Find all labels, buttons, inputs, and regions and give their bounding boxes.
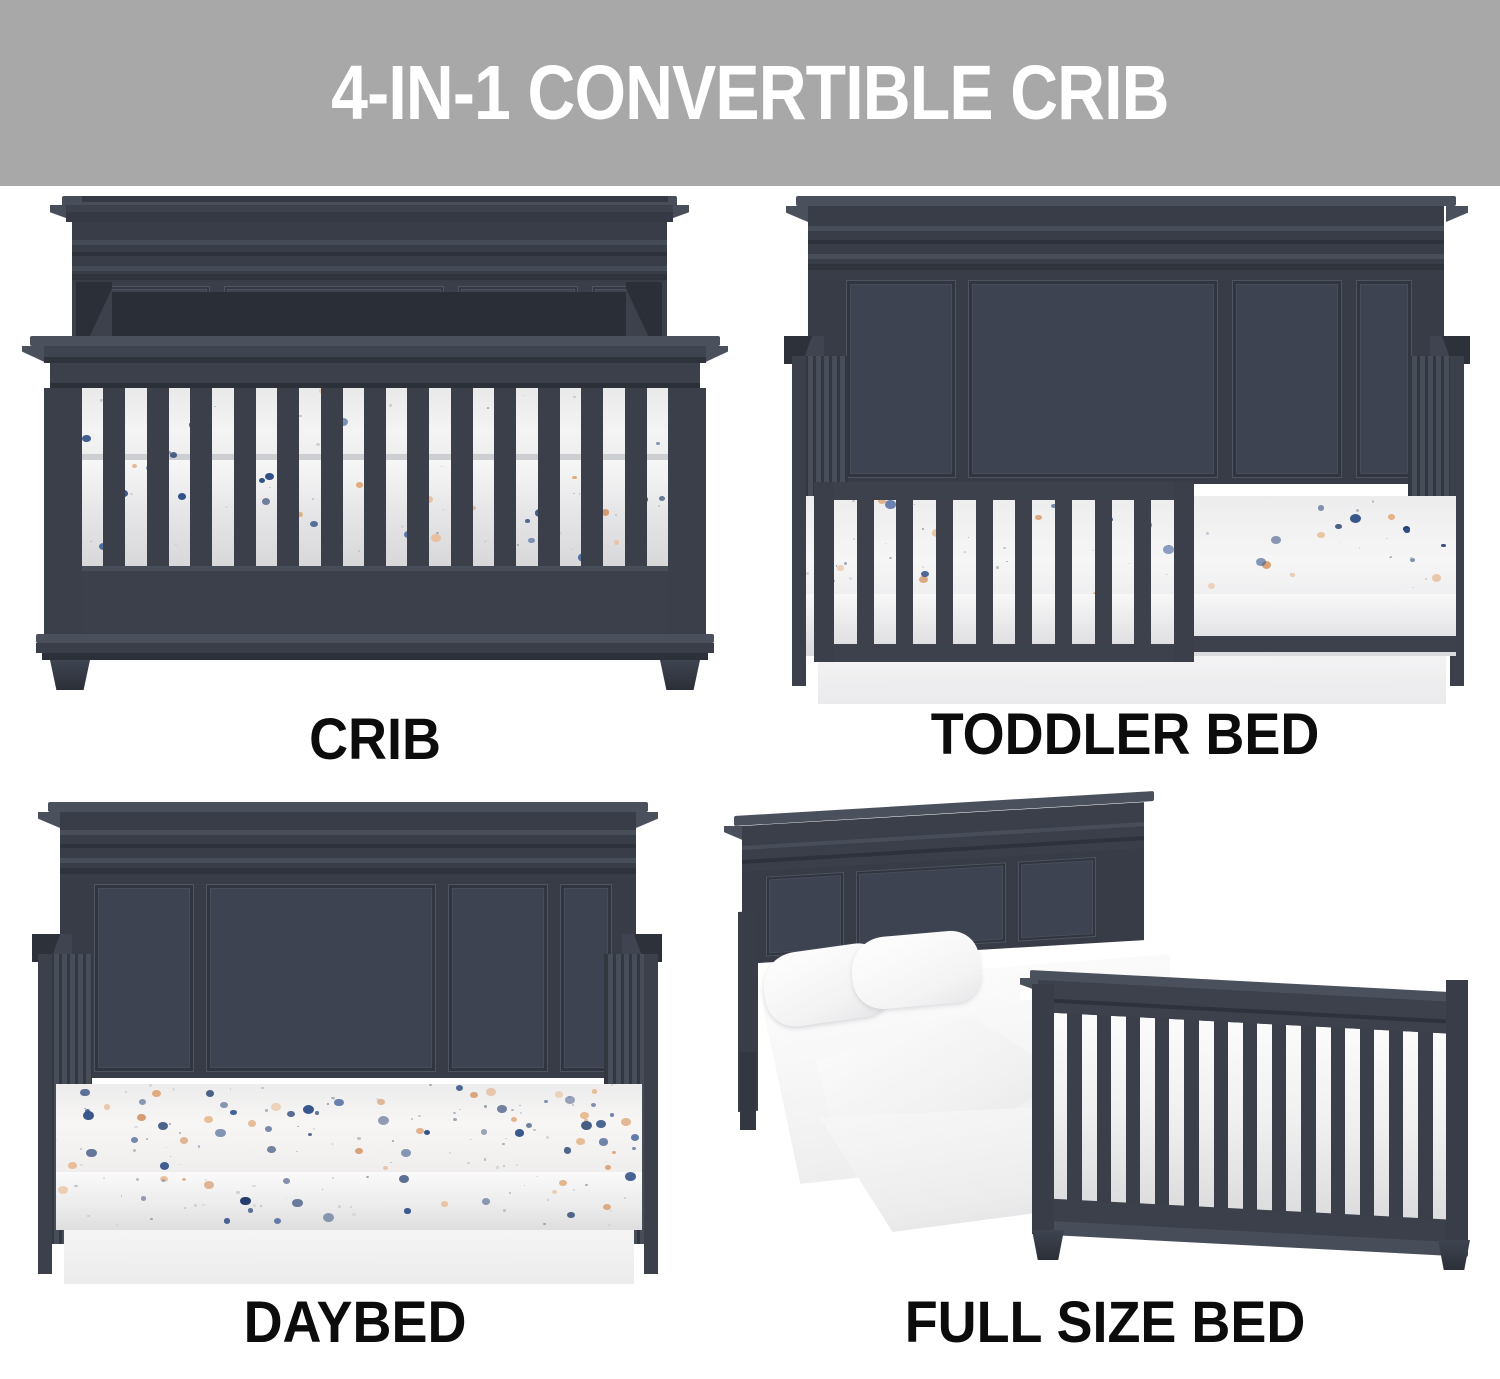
mattress-speckle (453, 1118, 457, 1121)
mattress-speckle (236, 1191, 239, 1194)
mattress-speckle (160, 1162, 169, 1169)
crib-base-molding-bottom (42, 653, 708, 660)
full-bed-headboard-leg-left (740, 1052, 756, 1130)
mattress-speckle (1404, 528, 1410, 533)
daybed-headboard-rail-4 (60, 868, 636, 874)
crib-lower-panel-edge (82, 566, 668, 571)
toddler-guard-rail-slat (1095, 498, 1112, 646)
mattress-speckle (230, 1110, 237, 1115)
mattress-speckle (366, 1176, 369, 1178)
mattress-speckle (202, 1204, 205, 1206)
mattress-speckle (1441, 544, 1445, 548)
mattress-speckle (1425, 578, 1427, 579)
mattress-speckle (1356, 509, 1359, 512)
mattress-speckle (74, 1185, 77, 1188)
mattress-speckle (525, 519, 529, 523)
crib-base-molding-middle (36, 643, 714, 653)
toddler-headboard-rail-2 (808, 240, 1444, 244)
mattress-speckle (429, 1084, 432, 1086)
mattress-speckle (158, 1122, 168, 1130)
mattress-speckle (503, 1165, 505, 1167)
toddler-guard-rail-slat (1015, 498, 1032, 646)
mattress-speckle (194, 1204, 197, 1207)
crib-side-wing-left (76, 282, 112, 342)
mattress-speckle (68, 1162, 77, 1170)
crib-headboard-rail-2 (72, 252, 667, 256)
mattress-speckle (103, 1177, 106, 1179)
mattress-speckle (1410, 557, 1413, 559)
mattress-speckle (591, 1103, 596, 1107)
crib-corner-post-left (44, 388, 82, 634)
mattress-speckle (150, 1218, 153, 1220)
mattress-speckle (357, 1137, 360, 1140)
mattress-speckle (486, 1088, 496, 1096)
crib-front-molding-flare-right (706, 346, 728, 368)
daybed-bed-skirt (64, 1230, 634, 1284)
mattress-speckle (503, 1209, 506, 1212)
mattress-speckle (404, 1208, 410, 1213)
mattress-speckle (528, 538, 534, 543)
mattress-speckle (401, 525, 404, 527)
full-bed-footboard-slat-gap (1082, 1014, 1097, 1205)
mattress-speckle (1256, 558, 1266, 566)
crib-corner-post-right (668, 388, 706, 634)
crib-slat (321, 388, 343, 566)
mattress-speckle (614, 540, 620, 545)
crib-slat-top-cap (82, 196, 668, 202)
mattress-speckle (310, 521, 317, 527)
mattress-speckle (547, 1199, 549, 1201)
mattress-speckle (526, 1123, 532, 1128)
crib-slat (103, 388, 125, 566)
mattress-speckle (1340, 542, 1341, 543)
mattress-speckle (509, 1192, 511, 1194)
mattress-speckle (516, 1164, 518, 1166)
mattress-speckle (338, 1205, 341, 1208)
crib-front-rail-band-1 (44, 346, 706, 357)
mattress-speckle (179, 1164, 181, 1165)
mattress-speckle (205, 1179, 207, 1181)
full-bed-headboard-crown-flare (724, 826, 744, 848)
toddler-raised-panel (968, 280, 1218, 478)
mattress-speckle (612, 1151, 616, 1154)
toddler-headboard-rail-3 (808, 254, 1444, 259)
crib-slat (625, 388, 647, 566)
mattress-speckle (416, 1128, 423, 1134)
toddler-raised-panel (1232, 280, 1342, 478)
mattress-speckle (383, 1166, 389, 1171)
full-bed-footboard-slat-gap (1052, 1013, 1067, 1204)
toddler-raised-panel (1356, 280, 1412, 478)
mattress-speckle (248, 1120, 256, 1127)
mattress-speckle (459, 1109, 461, 1110)
mattress-speckle (296, 1151, 298, 1153)
mattress-speckle (240, 1197, 250, 1205)
daybed-raised-panel (448, 884, 548, 1072)
mattress-speckle (152, 1090, 161, 1097)
crib-lower-front-panel (82, 566, 668, 634)
mattress-speckle (441, 1201, 448, 1207)
mattress-speckle (220, 1102, 227, 1108)
mattress-speckle (1412, 587, 1413, 588)
toddler-guard-rail-slat (896, 498, 913, 646)
mattress-speckle (533, 1129, 535, 1131)
daybed-crown-molding (48, 802, 648, 812)
daybed-raised-panel (206, 884, 436, 1072)
mattress-speckle (572, 1104, 574, 1106)
mattress-speckle (484, 540, 487, 542)
mattress-speckle (592, 1089, 598, 1094)
mattress-speckle (132, 464, 137, 468)
mattress-speckle (511, 1109, 514, 1112)
toddler-headboard-rail-1 (808, 226, 1444, 231)
toddler-guard-rail-slat (1055, 498, 1072, 646)
configuration-grid: CRIB (0, 186, 1500, 1379)
mattress-speckle (559, 1180, 567, 1186)
mattress-speckle (484, 1158, 487, 1160)
mattress-speckle (517, 544, 519, 546)
mattress-speckle (204, 1181, 214, 1189)
mattress-speckle (174, 544, 177, 546)
mattress-speckle (350, 1206, 351, 1207)
mattress-speckle (390, 1162, 392, 1164)
mattress-speckle (331, 1097, 334, 1100)
mattress-speckle (502, 1143, 505, 1146)
full-bed-foot-left (1032, 1230, 1064, 1260)
crib-front-molding-flare-left (22, 346, 44, 368)
full-bed-raised-panel (1018, 857, 1096, 942)
mattress-speckle (179, 1132, 181, 1134)
mattress-speckle (611, 1084, 613, 1086)
mattress-speckle (1432, 574, 1441, 582)
mattress-speckle (615, 514, 617, 516)
mattress-speckle (286, 1198, 287, 1199)
caption-full-size-bed: FULL SIZE BED (738, 1294, 1473, 1352)
mattress-speckle (536, 1176, 538, 1177)
mattress-speckle (252, 1185, 255, 1188)
mattress-speckle (1271, 536, 1281, 544)
full-bed-footboard-slat-gap (1111, 1016, 1126, 1207)
mattress-speckle (58, 1186, 68, 1194)
mattress-speckle (467, 1162, 470, 1164)
crib-front-rail-band-3 (50, 363, 700, 383)
mattress-speckle (567, 1212, 575, 1218)
full-bed-footboard-slat-gap (1345, 1028, 1360, 1219)
mattress-speckle (297, 1126, 299, 1127)
toddler-guard-rail-post-left (814, 482, 834, 662)
crib-base-molding-top (36, 634, 714, 643)
daybed-crown-flare-left (38, 812, 60, 836)
mattress-speckle (83, 1111, 94, 1120)
mattress-speckle (580, 1112, 589, 1119)
mattress-speckle (180, 1137, 188, 1143)
toddler-guard-rail-slat (976, 498, 993, 646)
toddler-lower-side-rail-right (1194, 636, 1456, 652)
mattress-speckle (581, 1121, 592, 1130)
crib-illustration (0, 186, 750, 796)
caption-toddler-bed: TODDLER BED (776, 706, 1474, 764)
full-bed-footboard-post-left (1032, 984, 1054, 1234)
mattress-speckle (481, 1129, 487, 1134)
mattress-speckle (322, 1189, 324, 1190)
mattress-speckle (299, 415, 301, 417)
daybed-mattress-top (56, 1084, 642, 1172)
mattress-speckle (265, 1109, 268, 1111)
daybed-headboard-rail-3 (60, 858, 636, 863)
mattress-speckle (453, 1112, 456, 1115)
toddler-bed-skirt (818, 656, 1446, 704)
mattress-speckle (511, 1117, 518, 1123)
toddler-headboard-rail-4 (808, 264, 1444, 270)
mattress-speckle (121, 1195, 123, 1196)
daybed-raised-panel (94, 884, 194, 1072)
crib-slat (407, 388, 429, 566)
crib-foot-right (660, 660, 700, 690)
mattress-speckle (520, 1112, 522, 1114)
mattress-speckle (139, 1099, 146, 1105)
daybed-headboard-rail-2 (60, 844, 636, 848)
mattress-speckle (631, 1134, 639, 1141)
mattress-speckle (1386, 538, 1387, 539)
mattress-speckle (224, 1218, 231, 1223)
mattress-speckle (1389, 557, 1391, 559)
mattress-speckle (162, 1179, 165, 1182)
daybed-corner-post-right (644, 954, 658, 1274)
mattress-speckle (377, 1099, 384, 1105)
mattress-speckle (352, 1213, 356, 1216)
mattress-speckle (56, 1139, 57, 1140)
mattress-speckle (316, 443, 319, 446)
mattress-speckle (576, 1138, 586, 1146)
mattress-speckle (169, 1123, 172, 1125)
mattress-speckle (573, 1189, 575, 1190)
toddler-headboard-panel-row (808, 274, 1444, 484)
crib-headboard-lower-band (72, 274, 667, 280)
mattress-speckle (141, 1196, 147, 1201)
mattress-speckle (269, 487, 271, 488)
mattress-speckle (625, 1172, 636, 1181)
mattress-speckle (1335, 524, 1342, 529)
mattress-speckle (170, 452, 177, 458)
mattress-speckle (1359, 547, 1360, 548)
mattress-speckle (1208, 583, 1215, 589)
toddler-guard-rail-slat (1134, 498, 1151, 646)
full-bed-footboard-slat-gap (1316, 1027, 1331, 1218)
mattress-speckle (1350, 514, 1361, 523)
mattress-speckle (146, 1138, 149, 1140)
mattress-speckle (292, 1199, 302, 1207)
crib-slat (147, 388, 169, 566)
mattress-speckle (313, 1128, 315, 1130)
toddler-guard-rail-slat (936, 498, 953, 646)
full-bed-footboard-slat-gap (1286, 1025, 1301, 1216)
configuration-cell-toddler-bed: TODDLER BED (750, 186, 1500, 796)
mattress-speckle (573, 493, 575, 495)
mattress-speckle (283, 1178, 290, 1184)
full-bed-raised-panel (766, 872, 844, 957)
mattress-speckle (401, 1149, 411, 1157)
mattress-speckle (253, 1204, 256, 1207)
mattress-speckle (172, 1088, 175, 1091)
full-bed-footboard-slat-gap (1257, 1023, 1272, 1214)
mattress-speckle (327, 1103, 328, 1104)
mattress-speckle (80, 1089, 89, 1097)
mattress-speckle (198, 1145, 201, 1147)
full-bed-footboard-slat-gap (1403, 1031, 1418, 1222)
mattress-speckle (248, 1208, 254, 1213)
mattress-speckle (1388, 514, 1396, 520)
daybed-mattress-front-face (56, 1172, 642, 1230)
mattress-speckle (82, 435, 90, 442)
mattress-speckle (358, 550, 360, 551)
full-bed-footboard-slat-group (1038, 1012, 1462, 1224)
mattress-speckle (544, 1100, 549, 1104)
mattress-speckle (166, 1147, 167, 1148)
mattress-speckle (610, 1113, 615, 1117)
toddler-guard-rail-slat (857, 498, 874, 646)
mattress-speckle (133, 1149, 136, 1152)
crib-slat (364, 388, 386, 566)
mattress-speckle (608, 1224, 610, 1226)
mattress-speckle (524, 1185, 526, 1187)
toddler-guard-rail-bottom (814, 644, 1194, 662)
mattress-speckle (86, 1149, 97, 1158)
mattress-speckle (424, 1130, 430, 1135)
mattress-speckle (806, 572, 809, 574)
daybed-crown-flare-right (636, 812, 658, 836)
daybed-headboard-panel-row (60, 878, 636, 1078)
crib-slat (451, 388, 473, 566)
crib-side-wing-right (626, 282, 662, 342)
crib-headboard-rail-3 (72, 266, 667, 271)
mattress-speckle (519, 1105, 520, 1106)
configuration-cell-daybed: DAYBED (0, 796, 710, 1379)
mattress-speckle (303, 1105, 314, 1114)
mattress-speckle (456, 1085, 463, 1091)
mattress-speckle (312, 498, 314, 500)
mattress-speckle (206, 1090, 214, 1096)
mattress-speckle (215, 1129, 226, 1138)
crib-foot-left (50, 660, 90, 690)
mattress-speckle (84, 1108, 85, 1109)
crib-front-top-molding (30, 336, 720, 346)
mattress-speckle (80, 1164, 82, 1166)
mattress-speckle (484, 1105, 487, 1108)
mattress-speckle (552, 1190, 557, 1194)
full-bed-footboard-slat-gap (1169, 1019, 1184, 1210)
mattress-speckle (267, 1146, 275, 1153)
full-bed-footboard-slat-gap (1140, 1017, 1155, 1208)
mattress-speckle (356, 482, 364, 488)
mattress-speckle (583, 1143, 585, 1144)
mattress-speckle (87, 1215, 90, 1217)
page-title: 4-IN-1 CONVERTIBLE CRIB (331, 55, 1168, 132)
crib-slat (538, 388, 560, 566)
mattress-speckle (287, 1111, 295, 1117)
full-bed-footboard-slat-gap (1199, 1020, 1214, 1211)
mattress-speckle (418, 1115, 421, 1117)
mattress-speckle (1317, 532, 1325, 539)
caption-crib: CRIB (26, 711, 724, 769)
crib-headboard-rail-1 (72, 240, 667, 245)
mattress-speckle (1318, 505, 1324, 510)
mattress-speckle (496, 1166, 499, 1168)
mattress-speckle (605, 1161, 606, 1162)
mattress-speckle (178, 493, 186, 500)
mattress-speckle (487, 407, 489, 409)
mattress-speckle (274, 1218, 281, 1224)
mattress-speckle (136, 1178, 139, 1181)
mattress-speckle (470, 1092, 477, 1098)
mattress-speckle (308, 1133, 312, 1136)
crib-slat (277, 388, 299, 566)
toddler-raised-panel (846, 280, 956, 478)
mattress-speckle (315, 1111, 319, 1115)
mattress-speckle (332, 1177, 334, 1179)
mattress-speckle (125, 1091, 128, 1093)
mattress-speckle (230, 1088, 231, 1089)
mattress-speckle (1206, 532, 1209, 534)
crib-crown-molding-bottom (66, 212, 673, 222)
mattress-speckle (378, 1116, 389, 1125)
mattress-speckle (131, 1137, 138, 1143)
crib-slat (494, 388, 516, 566)
mattress-speckle (80, 1148, 83, 1150)
mattress-speckle (632, 1147, 636, 1150)
full-bed-pillow (849, 929, 983, 1012)
mattress-speckle (621, 1118, 631, 1126)
mattress-speckle (149, 1084, 152, 1087)
mattress-speckle (104, 1104, 111, 1110)
mattress-speckle (515, 1129, 525, 1137)
toddler-crown-flare-right (1446, 206, 1468, 230)
mattress-speckle (596, 1120, 606, 1128)
mattress-speckle (470, 1139, 472, 1141)
mattress-speckle (497, 1105, 507, 1113)
mattress-speckle (555, 1091, 563, 1098)
mattress-speckle (355, 1148, 363, 1155)
full-bed-footboard-slat-gap (1374, 1030, 1389, 1221)
mattress-speckle (271, 1103, 281, 1111)
mattress-speckle (1372, 500, 1375, 502)
full-bed-footboard-slat-gap (1228, 1022, 1243, 1213)
mattress-speckle (265, 473, 274, 480)
mattress-speckle (170, 1156, 172, 1157)
mattress-speckle (610, 1210, 612, 1212)
daybed-corner-post-left (38, 954, 52, 1274)
mattress-speckle (116, 1224, 118, 1226)
mattress-speckle (399, 1175, 409, 1183)
toddler-guard-rail-post-right (1174, 482, 1194, 662)
crib-slat-opening (82, 388, 668, 566)
mattress-speckle (599, 1138, 608, 1145)
mattress-speckle (265, 1126, 272, 1132)
mattress-speckle (659, 496, 665, 501)
mattress-speckle (411, 1118, 413, 1119)
mattress-speckle (354, 1137, 355, 1138)
caption-daybed: DAYBED (25, 1294, 685, 1352)
mattress-speckle (334, 1099, 343, 1107)
mattress-speckle (137, 1114, 146, 1121)
configuration-cell-crib: CRIB (0, 186, 750, 796)
crib-slat (234, 388, 256, 566)
full-bed-foot-right (1438, 1240, 1470, 1270)
toddler-corner-post-left (792, 356, 806, 686)
mattress-speckle (482, 1198, 490, 1205)
mattress-speckle (331, 1143, 334, 1145)
mattress-speckle (204, 1116, 213, 1123)
mattress-speckle (261, 1087, 263, 1089)
